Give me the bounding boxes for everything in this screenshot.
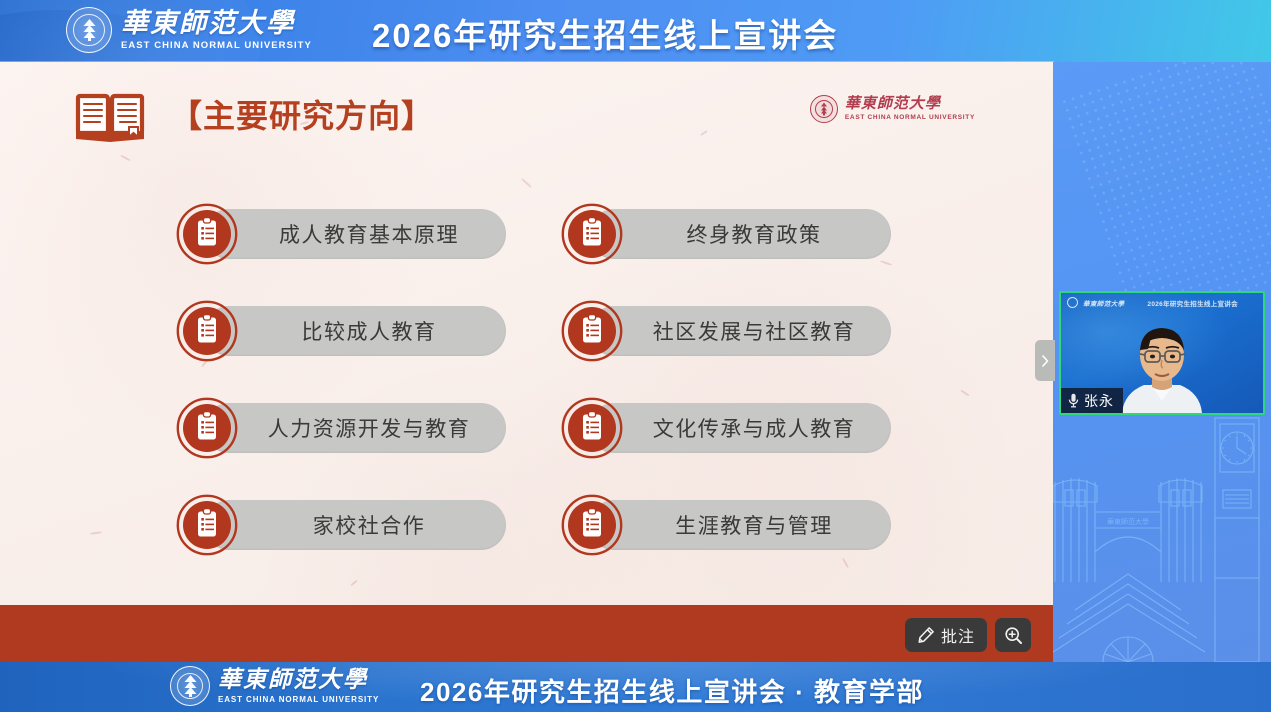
topic-pill: 生涯教育与管理 (589, 500, 891, 550)
university-seal-icon (1067, 297, 1078, 308)
chevron-right-icon (1040, 354, 1050, 368)
slide-logo-text: 華東師范大學 EAST CHINA NORMAL UNIVERSITY (845, 97, 975, 121)
list-item-label: 成人教育基本原理 (279, 219, 459, 249)
research-directions-grid: 成人教育基本原理 终身教育政策 (176, 202, 896, 557)
magnifier-plus-icon (1004, 626, 1023, 645)
list-item-label: 社区发展与社区教育 (653, 316, 856, 346)
list-item[interactable]: 社区发展与社区教育 (561, 299, 891, 363)
list-item-label: 人力资源开发与教育 (268, 413, 471, 443)
list-item[interactable]: 终身教育政策 (561, 202, 891, 266)
participant-name-badge: 张永 (1061, 388, 1123, 413)
topic-pill: 家校社合作 (204, 500, 506, 550)
list-item-label: 比较成人教育 (302, 316, 437, 346)
zoom-in-button[interactable] (995, 618, 1031, 652)
list-item[interactable]: 文化传承与成人教育 (561, 396, 891, 460)
topic-pill: 成人教育基本原理 (204, 209, 506, 259)
slide-university-logo: 華東師范大學 EAST CHINA NORMAL UNIVERSITY (810, 95, 975, 123)
bottom-bar: 華東師范大學 EAST CHINA NORMAL UNIVERSITY 2026… (0, 662, 1271, 712)
footer-event-title: 2026年研究生招生线上宣讲会 · 教育学部 (420, 672, 924, 709)
annotate-label: 批注 (941, 623, 975, 647)
topic-pill: 社区发展与社区教育 (589, 306, 891, 356)
panel-dot-pattern-decoration (1059, 62, 1271, 327)
microphone-icon (1068, 393, 1079, 408)
slide-header: 【主要研究方向】 (74, 86, 434, 142)
brand-text: 華東師范大學 EAST CHINA NORMAL UNIVERSITY (121, 9, 312, 50)
university-seal-icon (810, 95, 838, 123)
list-item[interactable]: 生涯教育与管理 (561, 493, 891, 557)
slide-logo-english: EAST CHINA NORMAL UNIVERSITY (845, 114, 975, 121)
list-item-label: 生涯教育与管理 (675, 510, 833, 540)
topic-pill: 人力资源开发与教育 (204, 403, 506, 453)
clipboard-checklist-icon (176, 397, 238, 459)
list-item[interactable]: 比较成人教育 (176, 299, 506, 363)
footer-brand-text: 華東師范大學 EAST CHINA NORMAL UNIVERSITY (218, 668, 379, 703)
list-item[interactable]: 人力资源开发与教育 (176, 396, 506, 460)
slide-title: 【主要研究方向】 (170, 91, 434, 137)
university-brand-lockup: 華東師范大學 EAST CHINA NORMAL UNIVERSITY (66, 7, 312, 53)
slide-logo-chinese: 華東師范大學 (845, 97, 975, 112)
clipboard-checklist-icon (561, 397, 623, 459)
open-book-icon (74, 86, 146, 142)
footer-brand-chinese: 華東師范大學 (218, 668, 379, 692)
list-item-label: 家校社合作 (313, 510, 426, 540)
clipboard-checklist-icon (561, 300, 623, 362)
list-item-label: 文化传承与成人教育 (653, 413, 856, 443)
topic-pill: 比较成人教育 (204, 306, 506, 356)
panel-collapse-handle[interactable] (1035, 340, 1055, 381)
clipboard-checklist-icon (561, 494, 623, 556)
brand-name-chinese: 華東師范大學 (121, 9, 312, 37)
list-item[interactable]: 成人教育基本原理 (176, 202, 506, 266)
slide-footer-band (0, 605, 1053, 662)
list-item[interactable]: 家校社合作 (176, 493, 506, 557)
participant-video-tile[interactable]: 華東師范大學 2026年研究生招生线上宣讲会 (1059, 291, 1265, 415)
svg-text:華東師范大學: 華東師范大學 (1107, 517, 1149, 526)
event-title: 2026年研究生招生线上宣讲会 (372, 9, 838, 57)
brand-name-english: EAST CHINA NORMAL UNIVERSITY (121, 40, 312, 51)
participant-avatar (1118, 321, 1206, 413)
video-watermark: 華東師范大學 2026年研究生招生线上宣讲会 (1067, 297, 1257, 308)
clipboard-checklist-icon (176, 203, 238, 265)
university-seal-icon (66, 7, 112, 53)
watermark-brand: 華東師范大學 (1083, 298, 1124, 308)
footer-brand-lockup: 華東師范大學 EAST CHINA NORMAL UNIVERSITY (170, 666, 379, 706)
university-seal-icon (170, 666, 210, 706)
participant-name: 张永 (1084, 391, 1114, 411)
pen-icon (917, 626, 935, 644)
footer-brand-english: EAST CHINA NORMAL UNIVERSITY (218, 695, 379, 704)
topic-pill: 文化传承与成人教育 (589, 403, 891, 453)
topic-pill: 终身教育政策 (589, 209, 891, 259)
list-item-label: 终身教育政策 (687, 219, 822, 249)
shared-screen-slide[interactable]: 【主要研究方向】 華東師范大學 EAST CHINA NORMAL UNIVER… (0, 62, 1053, 662)
top-header-bar: 華東師范大學 EAST CHINA NORMAL UNIVERSITY 2026… (0, 0, 1271, 62)
clipboard-checklist-icon (176, 494, 238, 556)
slide-toolbar: 批注 (905, 618, 1031, 652)
clipboard-checklist-icon (561, 203, 623, 265)
annotate-button[interactable]: 批注 (905, 618, 987, 652)
clipboard-checklist-icon (176, 300, 238, 362)
watermark-title: 2026年研究生招生线上宣讲会 (1147, 298, 1237, 308)
